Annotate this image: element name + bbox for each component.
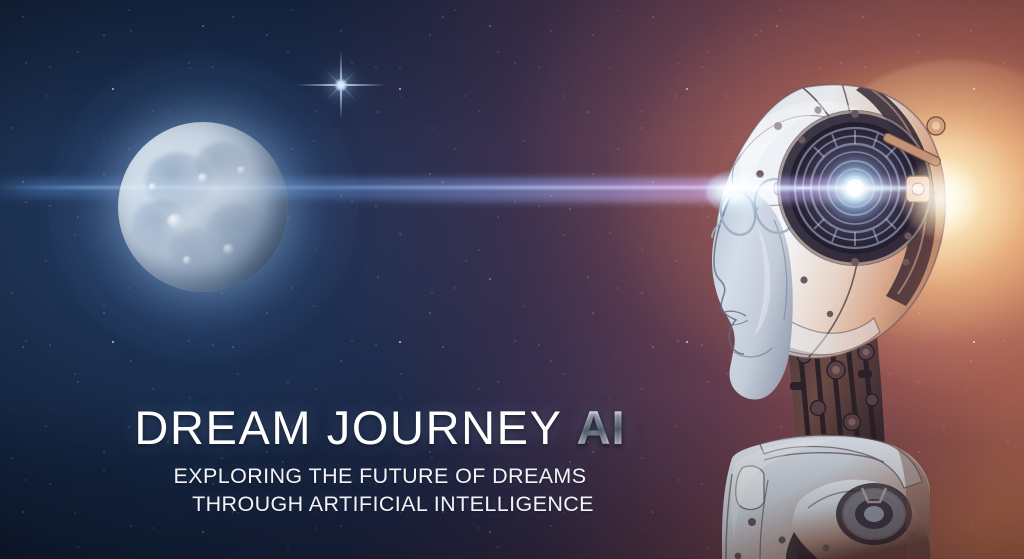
subtitle-line-2: THROUGH ARTIFICIAL INTELLIGENCE xyxy=(0,491,760,519)
headline-block: DREAM JOURNEYAI EXPLORING THE FUTURE OF … xyxy=(0,404,760,518)
page-subtitle: EXPLORING THE FUTURE OF DREAMSTHROUGH AR… xyxy=(0,463,760,518)
title-accent-ai: AI xyxy=(577,404,626,451)
subtitle-line-1: EXPLORING THE FUTURE OF DREAMS xyxy=(174,464,587,488)
hero-banner: DREAM JOURNEYAI EXPLORING THE FUTURE OF … xyxy=(0,0,1024,559)
page-title: DREAM JOURNEYAI xyxy=(0,404,760,451)
title-main-text: DREAM JOURNEY xyxy=(134,401,562,454)
